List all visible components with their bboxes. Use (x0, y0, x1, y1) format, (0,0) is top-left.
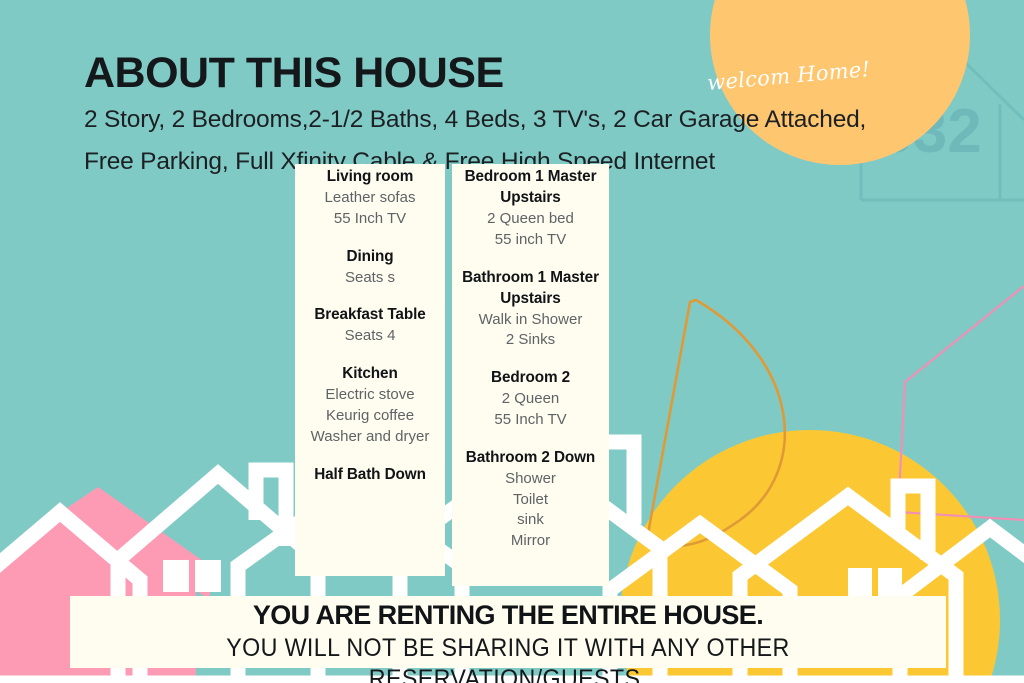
bottom-banner: YOU ARE RENTING THE ENTIRE HOUSE. YOU WI… (70, 596, 946, 668)
info-group-title: Bedroom 2 (456, 368, 605, 389)
info-group-item: Washer and dryer (299, 427, 441, 448)
info-group-title: Breakfast Table (299, 305, 441, 326)
info-group-item: Walk in Shower (456, 310, 605, 331)
info-group-item: Leather sofas (299, 188, 441, 209)
info-group: Half Bath Down (299, 465, 441, 486)
info-column-left: Living room Leather sofas 55 Inch TV Din… (295, 164, 445, 576)
info-group: Bathroom 1 Master Upstairs Walk in Showe… (456, 268, 605, 352)
info-group: Kitchen Electric stove Keurig coffee Was… (299, 364, 441, 447)
banner-headline: YOU ARE RENTING THE ENTIRE HOUSE. (70, 599, 946, 633)
info-group: Dining Seats s (299, 247, 441, 289)
info-group: Bedroom 2 2 Queen 55 Inch TV (456, 368, 605, 431)
info-group-item: Seats 4 (299, 326, 441, 347)
info-group-title: Bathroom 1 Master Upstairs (456, 268, 605, 310)
info-group: Bedroom 1 Master Upstairs 2 Queen bed 55… (456, 167, 605, 251)
info-group-title: Bathroom 2 Down (456, 448, 605, 469)
info-group-item: Electric stove (299, 385, 441, 406)
info-group-title: Kitchen (299, 364, 441, 385)
info-group-title: Half Bath Down (299, 465, 441, 486)
info-group-item: 2 Queen bed (456, 209, 605, 230)
info-group-title: Living room (299, 167, 441, 188)
info-group-item: 55 inch TV (456, 230, 605, 251)
info-group-item: 55 Inch TV (456, 410, 605, 431)
info-group-item: 2 Queen (456, 389, 605, 410)
info-group-item: 2 Sinks (456, 330, 605, 351)
banner-subtext: YOU WILL NOT BE SHARING IT WITH ANY OTHE… (101, 633, 916, 683)
info-group-title: Dining (299, 247, 441, 268)
info-group: Breakfast Table Seats 4 (299, 305, 441, 347)
info-group-item: Toilet (456, 490, 605, 511)
info-group: Bathroom 2 Down Shower Toilet sink Mirro… (456, 448, 605, 552)
info-column-right: Bedroom 1 Master Upstairs 2 Queen bed 55… (452, 164, 609, 586)
info-group-item: Seats s (299, 268, 441, 289)
info-group-item: Shower (456, 469, 605, 490)
info-group-item: sink (456, 510, 605, 531)
poster-canvas: 632 (0, 0, 1024, 683)
info-group: Living room Leather sofas 55 Inch TV (299, 167, 441, 230)
info-group-item: Keurig coffee (299, 406, 441, 427)
info-group-item: 55 Inch TV (299, 209, 441, 230)
info-group-title: Bedroom 1 Master Upstairs (456, 167, 605, 209)
subtitle-line-1: 2 Story, 2 Bedrooms,2-1/2 Baths, 4 Beds,… (84, 103, 914, 137)
info-group-item: Mirror (456, 531, 605, 552)
